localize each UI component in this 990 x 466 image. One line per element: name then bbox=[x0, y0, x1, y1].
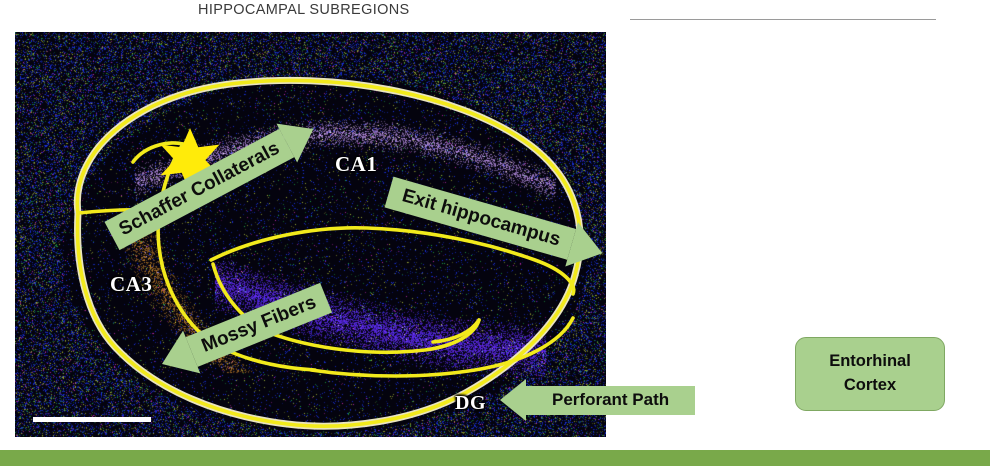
region-label-dg: DG bbox=[455, 392, 486, 415]
scale-bar bbox=[33, 417, 151, 422]
header-divider bbox=[630, 19, 936, 20]
entorhinal-cortex-line1: Entorhinal bbox=[829, 350, 911, 374]
pathway-arrow-perforant-label: Perforant Path bbox=[526, 386, 695, 415]
arrow-head-left-icon bbox=[500, 379, 526, 421]
region-label-ca3: CA3 bbox=[110, 272, 152, 297]
entorhinal-cortex-line2: Cortex bbox=[844, 374, 896, 398]
page-title: HIPPOCAMPAL SUBREGIONS bbox=[198, 2, 410, 18]
entorhinal-cortex-box: Entorhinal Cortex bbox=[795, 337, 945, 411]
footer-accent-band bbox=[0, 450, 990, 466]
slide-canvas: HIPPOCAMPAL SUBREGIONS bbox=[0, 0, 990, 466]
region-label-ca1: CA1 bbox=[335, 152, 377, 177]
pathway-arrow-perforant-path: Perforant Path bbox=[500, 379, 695, 421]
